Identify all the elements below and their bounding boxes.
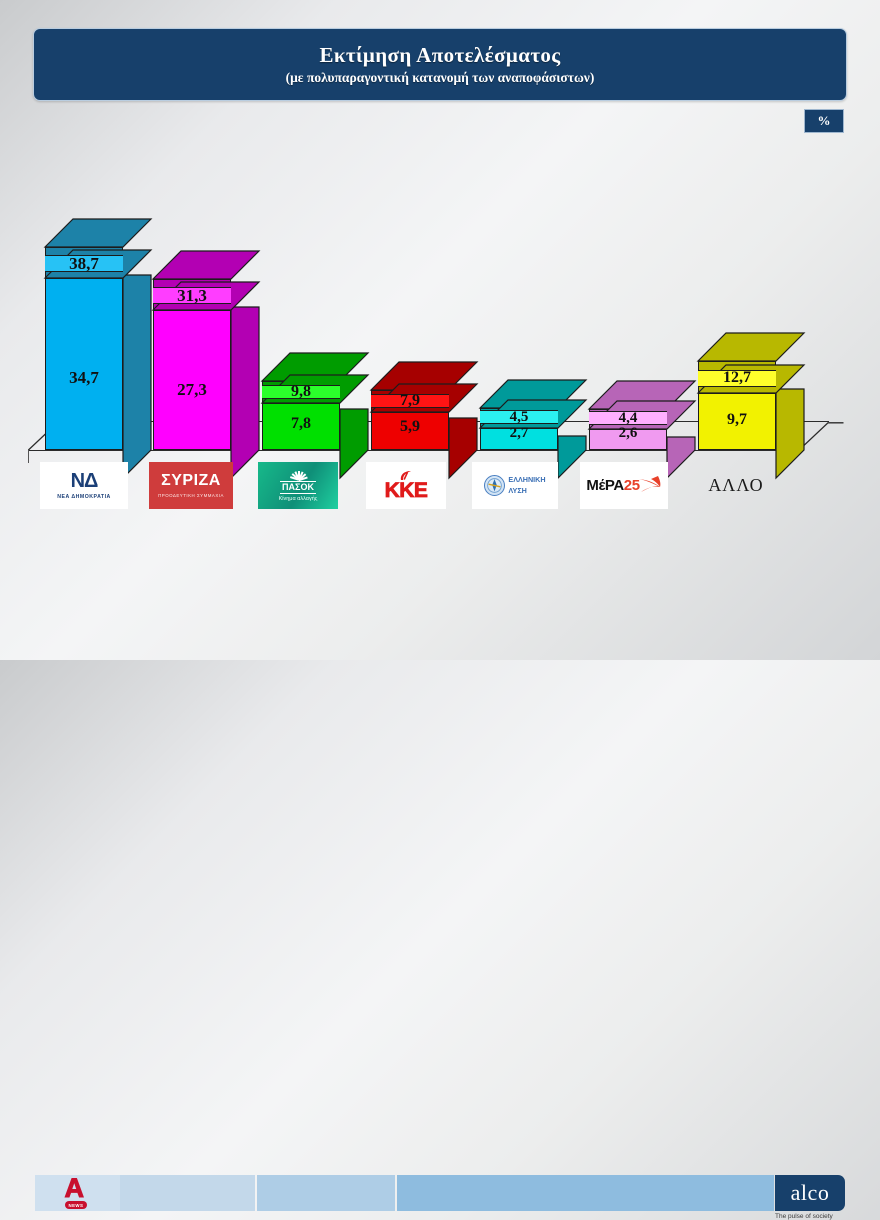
pasok-mark: ΠΑΣΟΚ — [280, 481, 316, 494]
slide-canvas: Εκτίμηση Αποτελέσματος (με πολυπαραγοντι… — [0, 0, 880, 660]
syriza-sublabel: ΠΡΟΟΔΕΥΤΙΚΗ ΣΥΜΜΑΧΙΑ — [158, 493, 224, 498]
bar-upper-value: 38,7 — [69, 254, 99, 274]
syriza-mark: ΣΥΡΙΖΑ — [161, 473, 221, 489]
footer-band-2 — [257, 1175, 395, 1211]
bar-lower-value: 5,9 — [371, 418, 449, 436]
bar-top-face — [45, 219, 151, 249]
bars-layer: 38,7 34,7 31,3 27,3 — [0, 150, 880, 450]
chart-plot-area: 38,7 34,7 31,3 27,3 — [0, 150, 880, 480]
bar-column: 31,3 27,3 — [153, 279, 231, 450]
bar-upper-value: 31,3 — [177, 286, 207, 306]
bar-upper-value-band: 7,9 — [371, 394, 449, 408]
bar-column: 12,7 9,7 — [698, 361, 776, 450]
alco-wordmark: alco — [791, 1182, 830, 1204]
bar-right-face — [123, 247, 151, 478]
logo-mera25: ΜέΡΑ25 — [580, 462, 668, 509]
alco-logo: alco — [775, 1175, 845, 1211]
bar-lower-value: 2,6 — [589, 425, 667, 442]
bar-top-face — [698, 333, 804, 363]
nd-mark: ΝΔ — [71, 471, 98, 491]
logo-syriza: ΣΥΡΙΖΑ ΠΡΟΟΔΕΥΤΙΚΗ ΣΥΜΜΑΧΙΑ — [149, 462, 233, 509]
logo-kke: ΚΚΕ — [366, 462, 446, 509]
logo-elliniki-lysi: ΕΛΛΗΝΙΚΗ ΛΥΣΗ — [472, 462, 558, 509]
bar-upper-value-band: 31,3 — [153, 287, 231, 304]
bar-upper-value: 9,8 — [291, 383, 311, 401]
bar-lower-value: 34,7 — [45, 368, 123, 388]
unit-badge: % — [804, 109, 844, 133]
nd-sublabel: ΝΕΑ ΔΗΜΟΚΡΑΤΙΑ — [57, 494, 111, 500]
bar-upper-value-band: 4,5 — [480, 410, 558, 424]
elliniki-lysi-line2: ΛΥΣΗ — [508, 486, 545, 497]
unit-badge-label: % — [818, 113, 831, 129]
sun-icon — [287, 469, 309, 480]
allo-label: ΑΛΛΟ — [708, 475, 763, 496]
mera25-mark: ΜέΡΑ — [586, 477, 623, 494]
kke-mark: ΚΚΕ — [385, 480, 428, 501]
pasok-sublabel: Κίνημα αλλαγής — [279, 496, 318, 502]
page-title: Εκτίμηση Αποτελέσματος — [319, 43, 560, 67]
elliniki-lysi-line1: ΕΛΛΗΝΙΚΗ — [508, 475, 545, 486]
footer-band-1 — [120, 1175, 255, 1211]
bar-upper-value: 7,9 — [400, 392, 420, 410]
bar-column: 4,5 2,7 — [480, 408, 558, 450]
arrow-icon — [638, 473, 662, 499]
bar-column: 7,9 5,9 — [371, 390, 449, 450]
bar-upper-value: 4,4 — [619, 410, 638, 427]
bar-upper-value-band: 12,7 — [698, 370, 776, 388]
bar-upper-value: 4,5 — [510, 409, 529, 426]
bar-top-face — [153, 251, 259, 281]
bar-lower-value: 27,3 — [153, 380, 231, 400]
bar-upper-value-band: 38,7 — [45, 255, 123, 272]
bar-lower-value: 9,7 — [698, 411, 776, 429]
logo-nd: ΝΔ ΝΕΑ ΔΗΜΟΚΡΑΤΙΑ — [40, 462, 128, 509]
logo-allo: ΑΛΛΟ — [688, 462, 784, 509]
category-logo-row: ΝΔ ΝΕΑ ΔΗΜΟΚΡΑΤΙΑ ΣΥΡΙΖΑ ΠΡΟΟΔΕΥΤΙΚΗ ΣΥΜ… — [0, 462, 880, 522]
bar-upper-value: 12,7 — [723, 369, 751, 387]
alpha-news-badge: NEWS — [65, 1201, 88, 1209]
bar-column: 4,4 2,6 — [589, 409, 667, 450]
bar-column: 9,8 7,8 — [262, 381, 340, 450]
page-subtitle: (με πολυπαραγοντική κατανομή των αναποφά… — [286, 70, 595, 86]
slide-footer: Α NEWS alco The pulse of society — [0, 580, 880, 660]
alco-tagline: The pulse of society — [775, 1213, 880, 1220]
footer-band-3 — [397, 1175, 774, 1211]
alpha-news-logo: Α NEWS — [35, 1175, 120, 1211]
logo-pasok: ΠΑΣΟΚ Κίνημα αλλαγής — [258, 462, 338, 509]
bar-lower-value: 7,8 — [262, 415, 340, 433]
bar-lower-value: 2,7 — [480, 425, 558, 442]
hammer-sickle-icon — [399, 470, 413, 481]
bar-upper-value-band: 4,4 — [589, 411, 667, 425]
bar-column: 38,7 34,7 — [45, 247, 123, 450]
emblem-icon — [484, 475, 505, 496]
slide-title-bar: Εκτίμηση Αποτελέσματος (με πολυπαραγοντι… — [33, 28, 847, 101]
bar-upper-value-band: 9,8 — [262, 385, 340, 399]
bar-lower-face — [45, 278, 123, 450]
alpha-letter: Α — [65, 1175, 85, 1202]
